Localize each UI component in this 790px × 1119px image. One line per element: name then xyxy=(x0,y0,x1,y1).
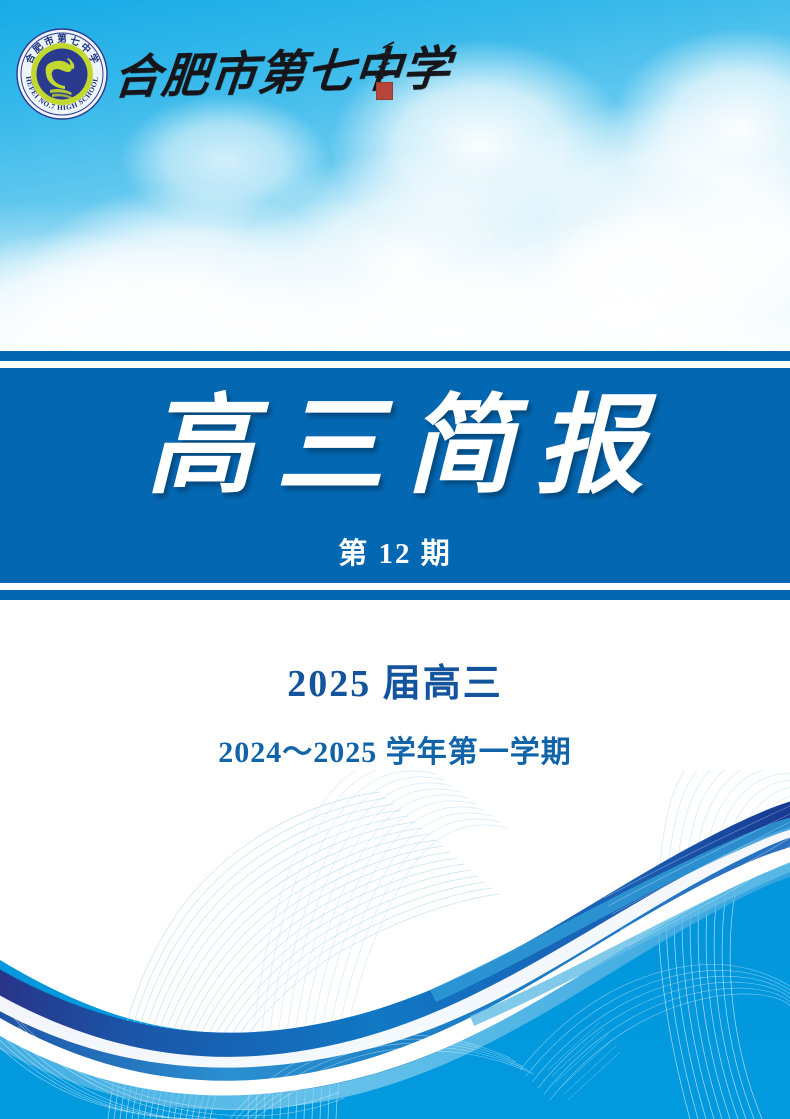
page-title: 高三简报 xyxy=(0,394,790,502)
title-banner: 高三简报 第 12 期 xyxy=(0,368,790,583)
calligraphy-signature-icon xyxy=(368,44,404,100)
grade-year-label: 2025 届高三 xyxy=(0,665,790,703)
issue-number: 第 12 期 xyxy=(0,540,790,569)
wave-decoration-graphic xyxy=(0,770,790,1119)
newsletter-cover-page: 合 肥 市 第 七 中 学 HEFEI NO.7 HIGH SCHOOL 合肥市… xyxy=(0,0,790,1119)
academic-term-label: 2024～2025 学年第一学期 xyxy=(0,738,790,768)
banner-top-rule xyxy=(0,351,790,361)
sky-haze-gradient xyxy=(0,201,790,351)
school-logo-icon: 合 肥 市 第 七 中 学 HEFEI NO.7 HIGH SCHOOL xyxy=(16,28,108,120)
banner-bottom-rule xyxy=(0,590,790,600)
red-seal-stamp xyxy=(376,82,393,100)
cloud-shape xyxy=(610,28,790,228)
